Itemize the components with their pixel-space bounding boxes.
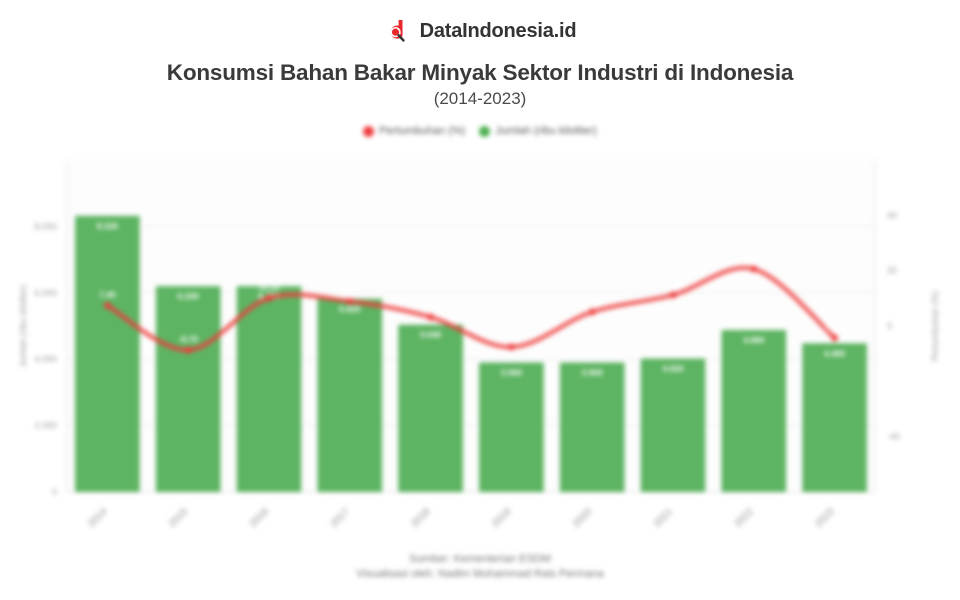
line-value-label: 20,60 — [743, 253, 765, 263]
legend-label: Pertumbuhan (%) — [379, 125, 465, 137]
bar[interactable] — [721, 330, 786, 492]
x-axis-tick-label: 2021 — [652, 506, 676, 530]
legend-marker-dot-icon — [479, 126, 490, 137]
bar-value-label: 8.320 — [97, 221, 119, 231]
x-axis-tick-label: 2017 — [328, 506, 352, 530]
x-axis-tick-label: 2023 — [813, 506, 837, 530]
y-axis-tick-label: 4.000 — [34, 354, 57, 364]
legend-item[interactable]: Jumlah (ribu kiloliter) — [479, 125, 596, 137]
x-axis-tick-label: 2014 — [86, 506, 110, 530]
bar-value-label: 3.900 — [582, 368, 604, 378]
y2-axis-tick-label: -40 — [887, 432, 900, 442]
chart-subtitle: (2014-2023) — [0, 89, 960, 109]
bar[interactable] — [156, 286, 221, 492]
line-marker[interactable] — [104, 302, 111, 309]
bar-value-label: 6.200 — [178, 291, 200, 301]
line-marker[interactable] — [589, 308, 596, 315]
y2-axis-title: Pertumbuhan (%) — [930, 291, 940, 362]
y2-axis-tick-label: 20 — [887, 266, 897, 276]
line-value-label: -4,30 — [825, 322, 845, 332]
line-value-label: 3,20 — [422, 301, 439, 311]
credit-note: Visualisasi oleh: Nadim Muhammad Rais Pe… — [0, 567, 960, 582]
line-marker[interactable] — [346, 298, 353, 305]
x-axis-tick-label: 2022 — [732, 506, 756, 530]
magnifier-d-logo-icon — [384, 18, 410, 44]
brand-name: DataIndonesia.id — [420, 20, 577, 43]
source-note: Sumber: Kementerian ESDM — [0, 552, 960, 567]
bar[interactable] — [479, 363, 544, 492]
chart-legend: Pertumbuhan (%)Jumlah (ribu kiloliter) — [0, 125, 960, 137]
chart-page: DataIndonesia.id Konsumsi Bahan Bakar Mi… — [0, 0, 960, 600]
bar[interactable] — [398, 325, 463, 492]
line-marker[interactable] — [185, 347, 192, 354]
bar-value-label: 4.020 — [662, 364, 684, 374]
bar-value-label: 5.040 — [420, 330, 442, 340]
bar-value-label: 3.900 — [501, 368, 523, 378]
bar[interactable] — [317, 299, 382, 492]
y-axis-title: Jumlah (ribu kiloliter) — [18, 284, 28, 367]
bar-value-label: 5.820 — [339, 304, 361, 314]
bar[interactable] — [237, 286, 302, 492]
y-axis-tick-label: 0 — [52, 487, 57, 497]
bar[interactable] — [641, 359, 706, 492]
chart-canvas: 02.0004.0006.0008.000-4002040Jumlah (rib… — [0, 148, 960, 548]
x-axis-tick-label: 2020 — [571, 506, 595, 530]
line-marker[interactable] — [831, 334, 838, 341]
legend-label: Jumlah (ribu kiloliter) — [495, 125, 596, 137]
line-marker[interactable] — [427, 314, 434, 321]
line-value-label: 8,90 — [342, 285, 359, 295]
line-marker[interactable] — [750, 266, 757, 273]
bar-value-label: 4.480 — [824, 348, 846, 358]
brand-header: DataIndonesia.id — [0, 18, 960, 44]
line-value-label: -7,60 — [502, 331, 522, 341]
line-value-label: -8,70 — [179, 334, 199, 344]
y-axis-tick-label: 2.000 — [34, 421, 57, 431]
legend-marker-dot-icon — [363, 126, 374, 137]
bar-value-label: 4.880 — [743, 335, 765, 345]
x-axis-tick-label: 2019 — [490, 506, 514, 530]
x-axis-tick-label: 2018 — [409, 506, 433, 530]
line-value-label: 7,40 — [99, 290, 116, 300]
bar[interactable] — [560, 363, 625, 492]
x-axis-tick-label: 2015 — [167, 506, 191, 530]
bar[interactable] — [75, 216, 140, 492]
y2-axis-tick-label: 40 — [887, 210, 897, 220]
chart-title: Konsumsi Bahan Bakar Minyak Sektor Indus… — [0, 60, 960, 86]
x-axis-tick-label: 2016 — [248, 506, 272, 530]
y-axis-tick-label: 6.000 — [34, 288, 57, 298]
line-marker[interactable] — [670, 292, 677, 299]
legend-item[interactable]: Pertumbuhan (%) — [363, 125, 465, 137]
line-marker[interactable] — [266, 295, 273, 302]
line-value-label: 10,10 — [258, 282, 280, 292]
chart-footer: Sumber: Kementerian ESDM Visualisasi ole… — [0, 552, 960, 582]
y-axis-tick-label: 8.000 — [34, 221, 57, 231]
line-marker[interactable] — [508, 344, 515, 351]
line-value-label: 5,10 — [584, 296, 601, 306]
bar[interactable] — [802, 343, 867, 492]
y2-axis-tick-label: 0 — [887, 321, 892, 331]
line-value-label: 11,20 — [663, 279, 684, 289]
